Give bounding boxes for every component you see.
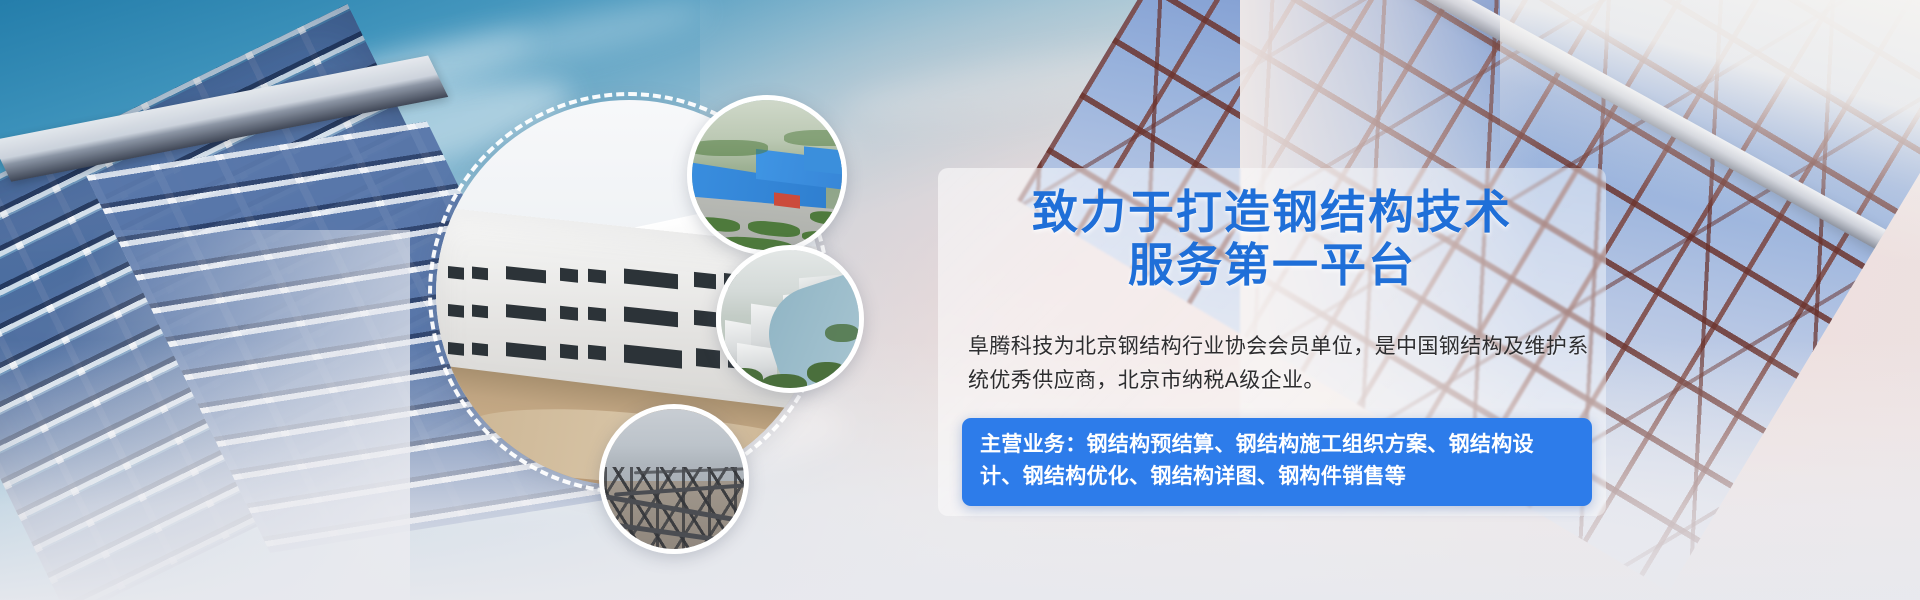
hero-banner: 致力于打造钢结构技术 服务第一平台 阜腾科技为北京钢结构行业协会会员单位，是中国… xyxy=(0,0,1920,600)
headline-line-1: 致力于打造钢结构技术 xyxy=(1032,185,1512,239)
photo-circle-aerial-plant xyxy=(687,95,847,255)
business-scope-box: 主营业务：钢结构预结算、钢结构施工组织方案、钢结构设计、钢结构优化、钢结构详图、… xyxy=(962,418,1592,506)
photo-circle-steel-frame xyxy=(599,404,749,554)
headline-line-2: 服务第一平台 xyxy=(938,239,1606,292)
description-text: 阜腾科技为北京钢结构行业协会会员单位，是中国钢结构及维护系统优秀供应商，北京市纳… xyxy=(968,330,1596,398)
headline: 致力于打造钢结构技术 服务第一平台 xyxy=(938,186,1606,293)
photo-circle-office-campus xyxy=(716,245,864,393)
